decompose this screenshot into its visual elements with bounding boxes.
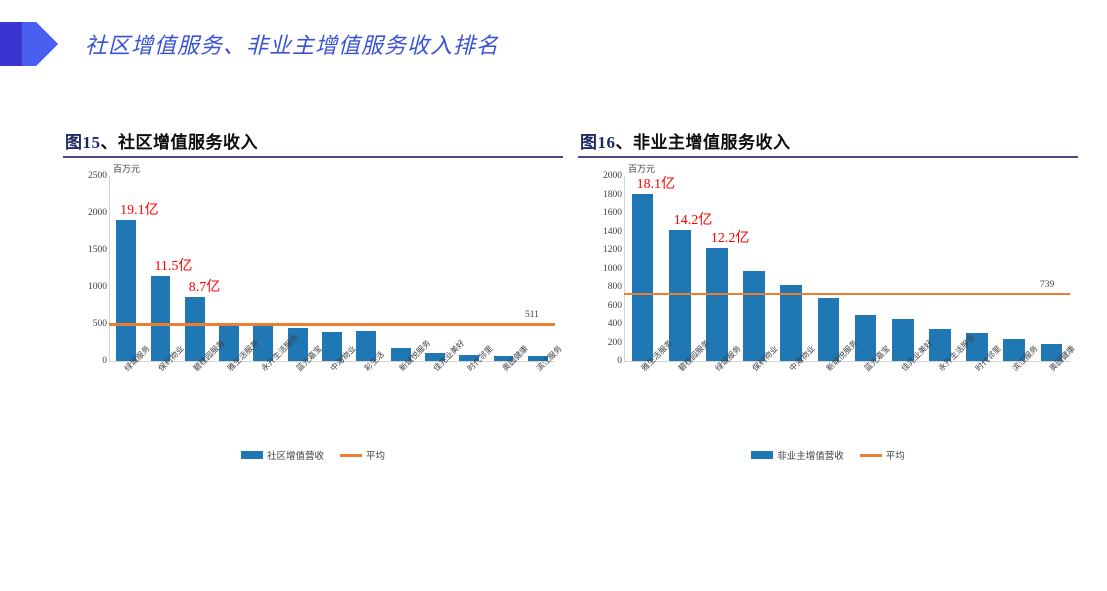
axis-unit-label: 百万元 (113, 162, 140, 175)
average-line (624, 293, 1070, 296)
y-axis-tick-label: 2500 (88, 171, 107, 181)
page-title: 社区增值服务、非业主增值服务收入排名 (85, 28, 499, 60)
figure-panel-left: 图15、社区增值服务收入 百万元050010001500200025005111… (63, 128, 563, 458)
y-axis-tick-label: 1000 (88, 282, 107, 292)
data-callout-label: 11.5亿 (154, 255, 192, 275)
bar (185, 297, 205, 361)
figure-title-right: 图16、非业主增值服务收入 (578, 128, 1078, 153)
legend-label-series: 社区增值营收 (267, 448, 324, 462)
y-axis-tick-label: 2000 (88, 208, 107, 218)
y-axis-tick-label: 1000 (603, 264, 622, 274)
y-axis-tick-label: 200 (608, 338, 622, 348)
bar (116, 220, 136, 361)
y-axis-line (624, 176, 625, 361)
slide-header: 社区增值服务、非业主增值服务收入排名 (0, 0, 1107, 95)
y-axis: 05001000150020002500 (63, 162, 107, 392)
y-axis-tick-label: 500 (93, 319, 107, 329)
chevron-right-icon (0, 22, 58, 66)
legend-bar-swatch-icon (751, 451, 773, 459)
figure-panel-right: 图16、非业主增值服务收入 百万元02004006008001000120014… (578, 128, 1078, 458)
figure-title-text-left: 社区增值服务收入 (118, 133, 258, 152)
legend-item-average[interactable]: 平均 (860, 448, 905, 462)
chart-legend: 社区增值营收平均 (63, 448, 563, 462)
plot-area: 百万元0200400600800100012001400160018002000… (578, 162, 1078, 392)
bar (743, 271, 765, 361)
legend-item-series[interactable]: 非业主增值营收 (751, 448, 844, 462)
legend-label-average: 平均 (886, 448, 905, 462)
chart-legend: 非业主增值营收平均 (578, 448, 1078, 462)
bar (151, 276, 171, 361)
y-axis-tick-label: 1800 (603, 190, 622, 200)
y-axis: 0200400600800100012001400160018002000 (578, 162, 622, 392)
data-callout-label: 12.2亿 (711, 227, 750, 247)
bar (669, 230, 691, 361)
legend-line-swatch-icon (860, 454, 882, 457)
average-line (109, 323, 555, 326)
y-axis-tick-label: 400 (608, 319, 622, 329)
figure-title-left: 图15、社区增值服务收入 (63, 128, 563, 153)
figure-rule-right (578, 156, 1078, 158)
y-axis-tick-label: 1200 (603, 245, 622, 255)
data-callout-label: 19.1亿 (120, 199, 159, 219)
figure-title-text-right: 非业主增值服务收入 (633, 133, 791, 152)
figure-number-right: 图16 (580, 133, 616, 152)
data-callout-label: 14.2亿 (674, 209, 713, 229)
y-axis-tick-label: 1400 (603, 227, 622, 237)
average-value-label: 511 (525, 310, 539, 320)
y-axis-tick-label: 0 (102, 356, 107, 366)
y-axis-tick-label: 600 (608, 301, 622, 311)
y-axis-tick-label: 800 (608, 282, 622, 292)
chart-community-value-added-revenue: 百万元0500100015002000250051119.1亿11.5亿8.7亿… (63, 162, 563, 462)
y-axis-tick-label: 1600 (603, 208, 622, 218)
bar (818, 298, 840, 361)
legend-label-average: 平均 (366, 448, 385, 462)
legend-item-series[interactable]: 社区增值营收 (241, 448, 324, 462)
figure-separator-left: 、 (101, 133, 119, 152)
legend-item-average[interactable]: 平均 (340, 448, 385, 462)
data-callout-label: 8.7亿 (189, 276, 221, 296)
figure-number-left: 图15 (65, 133, 101, 152)
average-value-label: 739 (1040, 280, 1054, 290)
y-axis-tick-label: 2000 (603, 171, 622, 181)
plot-area: 百万元0500100015002000250051119.1亿11.5亿8.7亿… (63, 162, 563, 392)
chart-non-owner-value-added-revenue: 百万元0200400600800100012001400160018002000… (578, 162, 1078, 462)
figure-rule-left (63, 156, 563, 158)
bar (780, 285, 802, 361)
y-axis-tick-label: 1500 (88, 245, 107, 255)
y-axis-tick-label: 0 (617, 356, 622, 366)
legend-bar-swatch-icon (241, 451, 263, 459)
legend-line-swatch-icon (340, 454, 362, 457)
y-axis-line (109, 176, 110, 361)
bar (632, 194, 654, 361)
figure-separator-right: 、 (616, 133, 634, 152)
legend-label-series: 非业主增值营收 (777, 448, 844, 462)
data-callout-label: 18.1亿 (637, 173, 676, 193)
